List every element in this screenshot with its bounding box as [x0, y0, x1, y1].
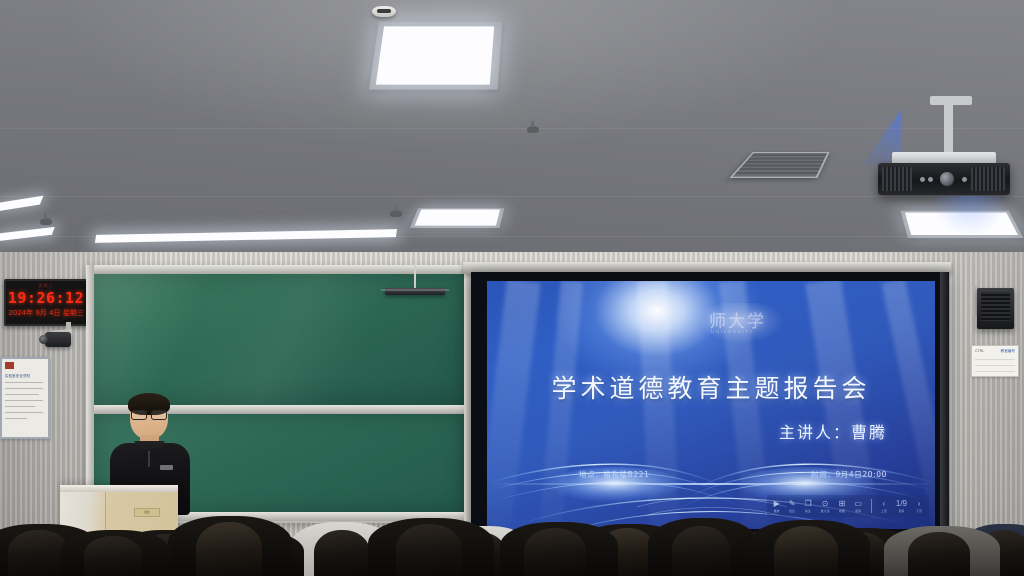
projector-glow [930, 196, 1010, 236]
projector [878, 163, 1010, 195]
clock-time: 19:26:12 [6, 289, 86, 307]
panel-left-label: CTRL [975, 349, 984, 353]
sprinkler-icon [40, 218, 52, 225]
audience-member [774, 526, 838, 576]
university-logo: 师大学 UNIVERSITY [699, 303, 783, 343]
glasses-icon [131, 410, 167, 418]
ceiling-light-panel [415, 210, 500, 226]
presenter-placket [148, 451, 150, 467]
audience-member [314, 530, 370, 576]
panel-right-label: 教室编号 [1001, 349, 1015, 354]
microphone-cable [414, 262, 416, 290]
wall-speaker-icon [977, 288, 1014, 329]
projector-mount-pole [944, 104, 953, 154]
sprinkler-icon [390, 210, 402, 217]
notice-header-mark [5, 362, 14, 369]
notice-title: 实验室安全须知 [5, 373, 30, 378]
university-logo-sub: UNIVERSITY [711, 329, 754, 334]
slide-speaker: 主讲人：曹腾 [779, 419, 887, 443]
audience-member [84, 536, 142, 576]
ceiling [0, 0, 1024, 268]
lecture-hall-photo: 星期三 19:26:12 2024年 9月 4日 星期三 实验室安全须知 CTR… [0, 0, 1024, 576]
audience-member [524, 528, 586, 576]
sprinkler-icon [527, 126, 539, 133]
audience-member [196, 522, 262, 576]
chalkboard-rail-top [88, 265, 468, 274]
wall-notice-board: 实验室安全须知 [0, 357, 50, 439]
hanging-microphone-icon [385, 288, 445, 295]
clock-date: 2024年 9月 4日 星期三 [6, 308, 86, 318]
slide-title: 学术道德教育主题报告会 [487, 369, 935, 405]
audience [0, 466, 1024, 576]
smoke-detector-icon [372, 6, 396, 17]
wall-control-panel[interactable]: CTRL 教室编号 [971, 345, 1019, 377]
ceiling-seam [0, 196, 1024, 197]
audience-member [396, 524, 462, 576]
ceiling-light-panel [376, 26, 494, 84]
security-camera-icon [45, 332, 71, 347]
audience-member [908, 532, 970, 576]
digital-wall-clock: 星期三 19:26:12 2024年 9月 4日 星期三 [4, 279, 88, 326]
ceiling-seam [0, 128, 1024, 129]
audience-member [672, 526, 730, 576]
